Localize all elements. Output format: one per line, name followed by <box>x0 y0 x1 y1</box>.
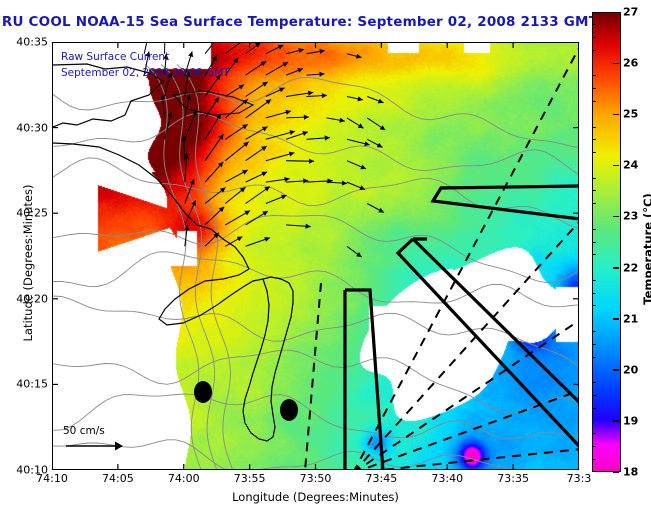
current-vector-head <box>218 134 223 140</box>
current-vector <box>225 43 245 54</box>
shipping-lane-diagonal-a <box>398 239 579 447</box>
current-vector <box>205 43 219 54</box>
colorbar-minor-tick <box>592 101 596 102</box>
colorbar-minor-tick <box>592 408 596 409</box>
current-vector-head <box>186 95 191 101</box>
colorbar-minor-tick <box>592 24 596 25</box>
current-vector-head <box>266 99 272 104</box>
shipping-lane-polygons <box>345 186 579 470</box>
colorbar-tick-24: 24 <box>623 159 638 172</box>
colorbar-minor-tick <box>592 139 596 140</box>
current-vector-head <box>284 177 289 182</box>
shipping-lane-upper <box>433 186 579 219</box>
current-vector-head <box>255 43 261 48</box>
colorbar-tickmark-19 <box>613 420 619 422</box>
current-vector-head <box>304 115 309 120</box>
colorbar-tickmark-21 <box>613 318 619 320</box>
colorbar-minor-tick <box>592 203 596 204</box>
colorbar-minor-tick <box>592 75 596 76</box>
sst-map-figure: RU COOL NOAA-15 Sea Surface Temperature:… <box>0 0 651 518</box>
dashed-transect-vertical <box>305 283 321 470</box>
colorbar-tickmark-22 <box>613 267 619 269</box>
colorbar-minor-tick <box>592 88 596 89</box>
current-vector-head <box>356 252 362 257</box>
y-tick-0: 40:35 <box>16 36 48 49</box>
colorbar-minor-tick <box>592 305 596 306</box>
current-vector-head <box>303 178 308 183</box>
y-tick-1: 40:30 <box>16 121 48 134</box>
station-marker-2 <box>280 399 298 421</box>
colorbar-tickmark-18 <box>613 472 619 474</box>
colorbar-minor-tick <box>592 433 596 434</box>
current-vector-head <box>264 187 270 192</box>
colorbar-gradient <box>593 13 620 471</box>
colorbar-minor-tick <box>592 50 596 51</box>
colorbar-tick-22: 22 <box>623 261 638 274</box>
bathymetry-contour <box>53 215 579 282</box>
colorbar-minor-tick <box>592 293 596 294</box>
colorbar-minor-tick <box>592 152 596 153</box>
annotation-line-2: September 02, 2008 20:00 GMT <box>61 67 230 79</box>
colorbar-minor-tick <box>592 446 596 447</box>
x-tick-3: 73:55 <box>234 472 266 485</box>
bathymetry-contour-nearshore <box>177 64 233 470</box>
bathymetry-contour <box>53 113 579 175</box>
x-tick-5: 73:45 <box>366 472 398 485</box>
x-tick-1: 74:05 <box>102 472 134 485</box>
current-vector-head <box>322 93 327 98</box>
coastline-segment <box>53 143 249 269</box>
colorbar-minor-tick <box>592 178 596 179</box>
colorbar-tickmark-20 <box>613 369 619 371</box>
dashed-transect-3 <box>353 295 579 470</box>
current-vector-head <box>339 118 345 123</box>
bathymetry-contour-nearshore <box>161 64 217 470</box>
colorbar-tick-25: 25 <box>623 108 638 121</box>
colorbar-minor-tick <box>592 357 596 358</box>
colorbar-tick-23: 23 <box>623 210 638 223</box>
colorbar-tickmark-26 <box>613 63 619 65</box>
bathymetry-contour-nearshore <box>145 64 201 470</box>
bathymetry-contour <box>53 77 579 148</box>
bathymetry-contour <box>53 394 579 439</box>
current-vector-head <box>168 112 173 118</box>
shipping-lane-corridor <box>345 290 383 470</box>
colorbar-tickmark-27 <box>613 12 619 14</box>
current-vector-head <box>309 159 314 164</box>
shipping-lane-diagonal-b <box>413 239 579 403</box>
colorbar-minor-tick <box>592 37 596 38</box>
colorbar-tick-27: 27 <box>623 6 638 19</box>
x-tick-8: 73:3 <box>567 472 592 485</box>
dashed-transect-4 <box>353 419 579 470</box>
colorbar-minor-tick <box>592 242 596 243</box>
current-vector-head <box>298 48 304 53</box>
vector-scale-legend: 50 cm/s <box>63 425 125 457</box>
vector-scale-label: 50 cm/s <box>63 425 125 437</box>
colorbar-tickmark-25 <box>613 114 619 116</box>
current-vector-head <box>380 125 386 130</box>
colorbar-tick-20: 20 <box>623 363 638 376</box>
colorbar-minor-tick <box>592 331 596 332</box>
right-arrow-icon <box>63 437 125 453</box>
colorbar-minor-tick <box>592 280 596 281</box>
map-plot-area[interactable]: Raw Surface Current September 02, 2008 2… <box>52 42 579 470</box>
colorbar-minor-tick <box>592 395 596 396</box>
bathymetry-contour <box>53 440 579 470</box>
current-vector-head <box>356 54 362 59</box>
current-vector-head <box>240 43 246 44</box>
bathymetry-contour <box>53 158 579 229</box>
y-tick-5: 40:10 <box>16 464 48 477</box>
current-vector-head <box>364 141 370 146</box>
temperature-colorbar <box>592 12 621 472</box>
colorbar-tickmark-24 <box>613 165 619 167</box>
x-tick-4: 73:50 <box>300 472 332 485</box>
colorbar-tickmark-23 <box>613 216 619 218</box>
current-vector-head <box>305 224 310 229</box>
colorbar-minor-tick <box>592 190 596 191</box>
colorbar-minor-tick <box>592 382 596 383</box>
x-tick-7: 73:35 <box>497 472 529 485</box>
current-vector-head <box>308 91 313 96</box>
y-axis-label: Latitude (Degrees:Minutes) <box>21 143 35 383</box>
map-canvas-stack <box>53 43 578 469</box>
x-axis-label: Longitude (Degrees:Minutes) <box>52 490 579 504</box>
colorbar-tick-19: 19 <box>623 414 638 427</box>
figure-title: RU COOL NOAA-15 Sea Surface Temperature:… <box>0 14 600 30</box>
bathymetry-contours <box>53 64 579 470</box>
current-vector-head <box>261 146 267 151</box>
bathymetry-contour <box>53 252 579 307</box>
colorbar-tick-18: 18 <box>623 466 638 479</box>
annotation-line-1: Raw Surface Current <box>61 51 169 63</box>
current-vector-head <box>325 135 330 140</box>
current-vector-head <box>319 72 324 77</box>
map-overlays <box>53 43 579 470</box>
station-marker-1 <box>194 381 212 403</box>
dashed-transect-1 <box>353 87 579 470</box>
colorbar-tick-21: 21 <box>623 312 638 325</box>
colorbar-minor-tick <box>592 344 596 345</box>
current-vector-head <box>262 82 268 87</box>
colorbar-minor-tick <box>592 254 596 255</box>
station-markers <box>194 381 298 421</box>
current-vector-head <box>233 58 238 64</box>
colorbar-minor-tick <box>592 229 596 230</box>
current-vector-head <box>289 152 295 157</box>
colorbar-label: Temperature (°C) <box>641 159 651 339</box>
colorbar-minor-tick <box>592 459 596 460</box>
x-tick-2: 74:00 <box>168 472 200 485</box>
current-vector-head <box>214 97 219 103</box>
current-vector-head <box>342 181 347 186</box>
current-vector-head <box>319 49 324 54</box>
current-vector-head <box>261 61 267 66</box>
colorbar-tick-26: 26 <box>623 57 638 70</box>
colorbar-minor-tick <box>592 127 596 128</box>
x-tick-6: 73:40 <box>431 472 463 485</box>
current-vector-head <box>290 130 296 135</box>
current-vector-head <box>285 110 291 115</box>
current-vector-head <box>357 96 363 101</box>
